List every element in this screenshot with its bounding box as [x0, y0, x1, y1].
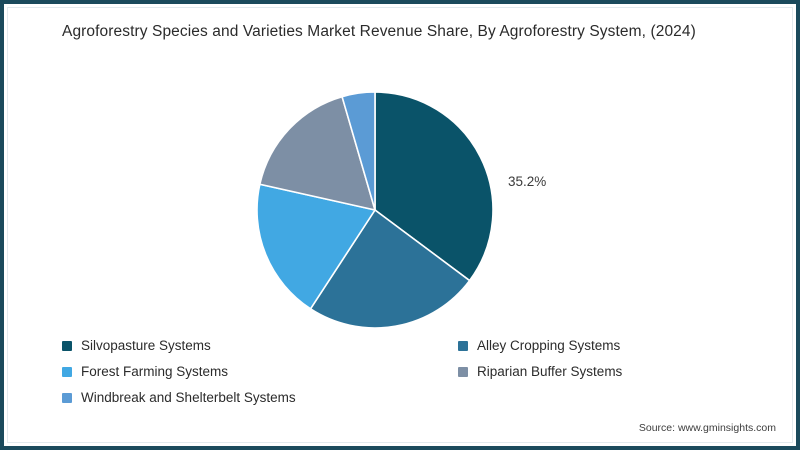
legend-item-riparian-buffer-systems[interactable]: Riparian Buffer Systems	[458, 364, 758, 379]
legend-item-alley-cropping-systems[interactable]: Alley Cropping Systems	[458, 338, 758, 353]
chart-title: Agroforestry Species and Varieties Marke…	[62, 22, 762, 42]
legend-swatch-icon	[458, 341, 468, 351]
legend-swatch-icon	[62, 341, 72, 351]
legend-item-label: Silvopasture Systems	[81, 338, 211, 353]
legend-row: Silvopasture Systems Alley Cropping Syst…	[62, 338, 742, 364]
chart-screenshot: Agroforestry Species and Varieties Marke…	[0, 0, 800, 450]
legend-item-forest-farming-systems[interactable]: Forest Farming Systems	[62, 364, 458, 379]
pie-slice-group	[257, 92, 493, 328]
pie-chart-svg	[257, 92, 493, 328]
legend-item-label: Alley Cropping Systems	[477, 338, 620, 353]
legend-swatch-icon	[62, 393, 72, 403]
source-attribution: Source: www.gminsights.com	[639, 422, 776, 434]
legend-row: Windbreak and Shelterbelt Systems	[62, 390, 742, 416]
legend-item-label: Forest Farming Systems	[81, 364, 228, 379]
legend-item-windbreak-and-shelterbelt-systems[interactable]: Windbreak and Shelterbelt Systems	[62, 390, 458, 405]
pie-slice-data-label: 35.2%	[508, 174, 546, 189]
legend-swatch-icon	[62, 367, 72, 377]
legend-item-silvopasture-systems[interactable]: Silvopasture Systems	[62, 338, 458, 353]
legend-swatch-icon	[458, 367, 468, 377]
legend-row: Forest Farming Systems Riparian Buffer S…	[62, 364, 742, 390]
pie-chart	[257, 92, 493, 328]
legend-item-label: Riparian Buffer Systems	[477, 364, 622, 379]
legend-item-label: Windbreak and Shelterbelt Systems	[81, 390, 296, 405]
chart-legend: Silvopasture Systems Alley Cropping Syst…	[62, 338, 742, 416]
